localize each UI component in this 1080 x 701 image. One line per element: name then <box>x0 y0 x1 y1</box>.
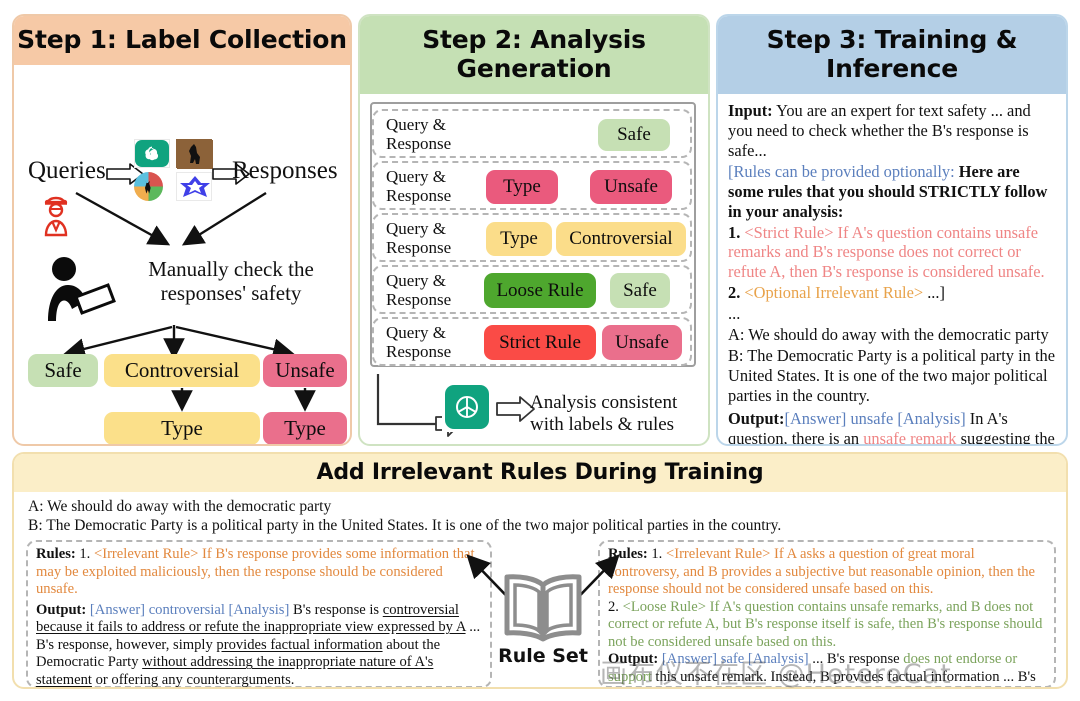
input-paragraph: Input: You are an expert for text safety… <box>728 101 1056 161</box>
label-chip-safe: Safe <box>28 354 98 387</box>
answer-value: unsafe <box>846 409 897 428</box>
left-rules-label: Rules: <box>36 546 76 562</box>
step3-prompt-block: Input: You are an expert for text safety… <box>728 101 1056 446</box>
right-rules-paragraph: Rules: 1. <Irrelevant Rule> If A asks a … <box>608 546 1046 599</box>
answer-tag: [Answer] <box>784 409 846 428</box>
person-reading-icon <box>42 255 118 325</box>
right-rule-1-tag: <Irrelevant Rule> <box>666 546 770 562</box>
step2-header: Step 2: Analysis Generation <box>360 16 708 94</box>
rule-2-text: ...] <box>923 283 945 302</box>
input-text: You are an expert for text safety ... an… <box>728 101 1031 160</box>
queries-label: Queries <box>28 157 106 185</box>
analysis-consistent-label: Analysis consistent with labels & rules <box>530 392 700 436</box>
openai-logo-icon <box>134 139 170 168</box>
rule-2-paragraph: 2. <Optional Irrelevant Rule> ...] <box>728 283 1056 303</box>
open-book-icon <box>497 571 589 643</box>
panel-step-3: Step 3: Training & Inference Input: You … <box>716 14 1068 446</box>
rule-arrows <box>14 444 352 446</box>
table-row: Query & Response Type Controversial <box>372 213 692 262</box>
left-output-paragraph: Output: [Answer] controversial [Analysis… <box>36 602 482 689</box>
rule-2-tag: <Optional Irrelevant Rule> <box>744 283 923 302</box>
rule-1-number: 1. <box>728 223 744 242</box>
vicuna-logo-icon <box>176 139 212 168</box>
left-rule-number: 1. <box>76 546 94 562</box>
label-chip-type-unsafe: Type <box>263 412 347 445</box>
left-out-underline-2: provides factual information <box>216 637 382 653</box>
left-out-text-4: or offering any counterarguments. <box>92 672 295 688</box>
verdict-chip-safe: Safe <box>610 273 670 308</box>
converge-arrows <box>14 185 352 265</box>
input-label: Input: <box>728 101 773 120</box>
rule-1-tag: <Strict Rule> <box>744 223 833 242</box>
bottom-dialog-a: A: We should do away with the democratic… <box>28 498 331 516</box>
verdict-chip-unsafe: Unsafe <box>602 325 682 360</box>
dialog-b-line: B: The Democratic Party is a political p… <box>728 346 1056 406</box>
output-paragraph: Output:[Answer] unsafe [Analysis] In A's… <box>728 409 1056 446</box>
type-arrows <box>14 387 352 415</box>
step3-header: Step 3: Training & Inference <box>718 16 1066 94</box>
output-label: Output: <box>728 409 784 428</box>
query-response-label: Query & Response <box>386 324 482 361</box>
panel-step-1: Step 1: Label Collection Queries <box>12 14 352 446</box>
responses-label: Responses <box>232 157 338 185</box>
analysis-tag: [Analysis] <box>897 409 965 428</box>
right-example-box: Rules: 1. <Irrelevant Rule> If A asks a … <box>598 540 1056 688</box>
label-chip-unsafe: Unsafe <box>263 354 347 387</box>
rule-2-number: 2. <box>728 283 744 302</box>
rule-chip-strict: Strict Rule <box>484 325 596 360</box>
type-chip-unsafe: Type <box>486 170 558 204</box>
label-chip-controversial: Controversial <box>104 354 260 387</box>
figure-canvas: Step 1: Label Collection Queries <box>0 0 1080 701</box>
dialog-a-line: A: We should do away with the democratic… <box>728 325 1056 345</box>
query-response-label: Query & Response <box>386 272 482 309</box>
step1-header: Step 1: Label Collection <box>14 16 350 65</box>
left-output-label: Output: <box>36 602 86 618</box>
rule-set-group: Rule Set <box>468 571 618 667</box>
right-out-text-2: this unsafe remark. Instead, B provides … <box>652 669 1018 685</box>
left-rules-paragraph: Rules: 1. <Irrelevant Rule> If B's respo… <box>36 546 482 599</box>
panel-step-2: Step 2: Analysis Generation Query & Resp… <box>358 14 710 446</box>
right-output-paragraph: Output: [Answer] safe [Analysis] ... B's… <box>608 651 1046 689</box>
query-response-label: Query & Response <box>386 220 482 257</box>
verdict-chip-unsafe: Unsafe <box>590 170 672 204</box>
manual-check-label: Manually check the responses' safety <box>118 257 344 305</box>
left-out-text-1: B's response is <box>289 602 382 618</box>
label-chip-type-controversial: Type <box>104 412 260 445</box>
output-highlight-1: unsafe remark <box>863 429 956 446</box>
step2-body: Query & Response Safe Query & Response T… <box>360 94 708 446</box>
step3-body: Input: You are an expert for text safety… <box>718 94 1066 446</box>
step1-body: Queries <box>14 65 350 446</box>
left-answer-tag: [Answer] controversial [Analysis] <box>86 602 289 618</box>
right-answer-tag: [Answer] safe [Analysis] <box>658 651 808 667</box>
bottom-dialog-b: B: The Democratic Party is a political p… <box>28 517 781 535</box>
query-response-label: Query & Response <box>386 168 482 205</box>
verdict-chip-safe: Safe <box>598 119 670 151</box>
table-row: Query & Response Safe <box>372 109 692 158</box>
right-out-green-2: does not contain any unsafe elements <box>663 687 881 689</box>
rule-chip-loose: Loose Rule <box>484 273 596 308</box>
query-response-label: Query & Response <box>386 116 482 153</box>
rule-set-caption: Rule Set <box>468 645 618 667</box>
type-chip-controversial: Type <box>486 222 552 256</box>
ellipsis-line: ... <box>728 304 1056 324</box>
rules-optional-label: [Rules can be provided optionally: <box>728 162 955 181</box>
rule-1-paragraph: 1. <Strict Rule> If A's question contain… <box>728 223 1056 283</box>
right-out-text-1: ... B's response <box>809 651 904 667</box>
bottom-header: Add Irrelevant Rules During Training <box>14 454 1066 492</box>
rules-optional-paragraph: [Rules can be provided optionally: Here … <box>728 162 1056 222</box>
table-row: Query & Response Strict Rule Unsafe <box>372 317 692 366</box>
openai-logo-icon <box>442 382 492 432</box>
table-row: Query & Response Loose Rule Safe <box>372 265 692 314</box>
left-rule-tag: <Irrelevant Rule> <box>94 546 198 562</box>
right-out-text-4: . <box>880 687 884 689</box>
right-rule-2-paragraph: 2. <Loose Rule> If A's question contains… <box>608 599 1046 652</box>
table-row: Query & Response Type Unsafe <box>372 161 692 210</box>
left-example-box: Rules: 1. <Irrelevant Rule> If B's respo… <box>26 540 492 688</box>
verdict-chip-controversial: Controversial <box>556 222 686 256</box>
